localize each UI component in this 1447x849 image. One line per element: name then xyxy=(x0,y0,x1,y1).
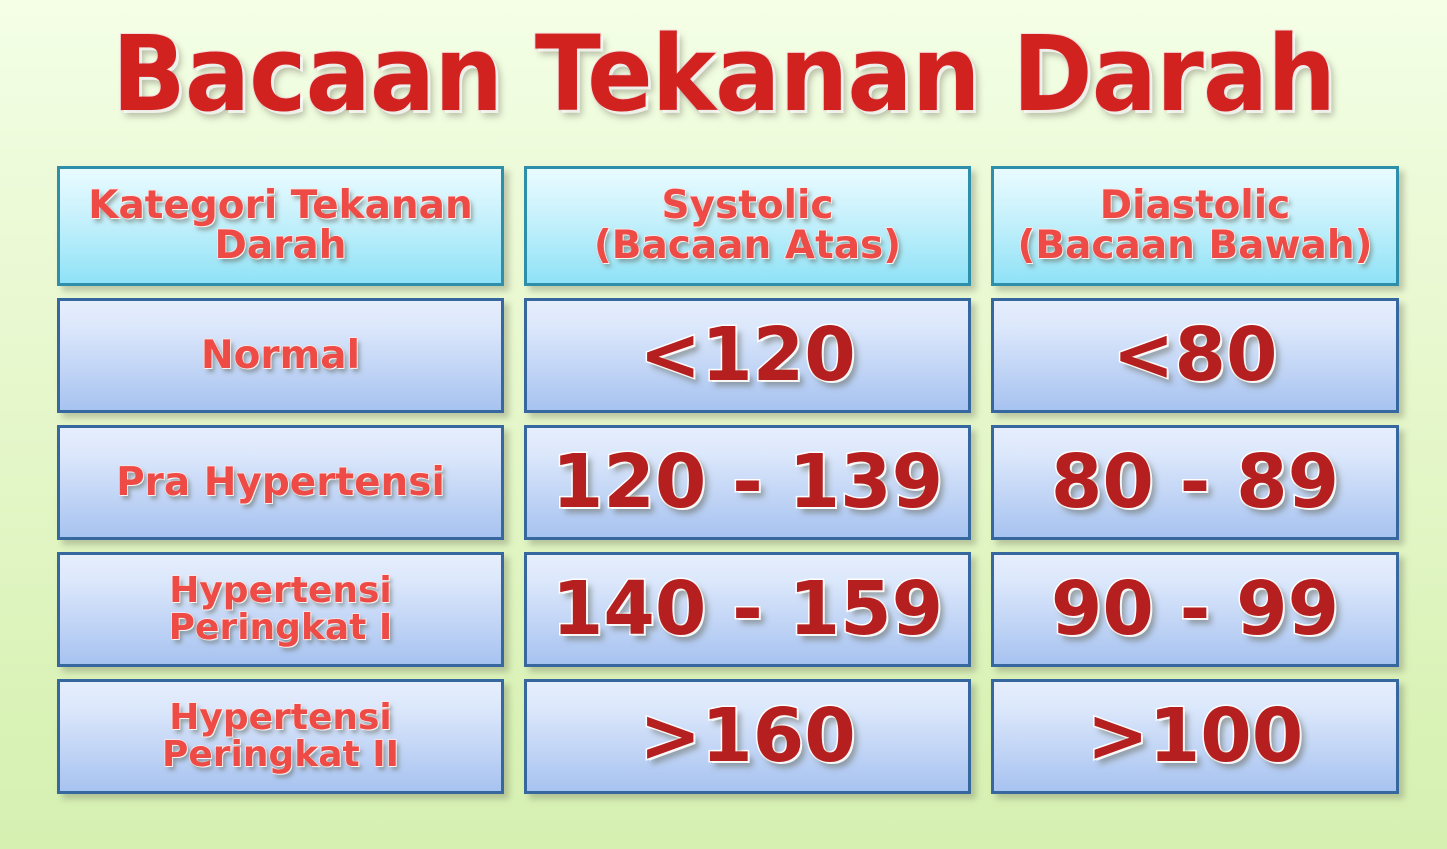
cell-category-hypertensi-2: Hypertensi Peringkat II xyxy=(162,700,399,773)
table-row: 140 - 159 xyxy=(524,552,971,667)
table-row: 120 - 139 xyxy=(524,425,971,540)
page-title-container: Bacaan Tekanan Darah xyxy=(0,4,1447,144)
table-row: 90 - 99 xyxy=(991,552,1399,667)
page-title: Bacaan Tekanan Darah xyxy=(112,22,1335,126)
cell-category-normal: Normal xyxy=(201,336,360,376)
table-row: Pra Hypertensi xyxy=(57,425,504,540)
header-label-category: Kategori Tekanan Darah xyxy=(88,186,473,266)
cell-diastolic-hypertensi-2: >100 xyxy=(1087,699,1303,774)
cell-diastolic-pra-hypertensi: 80 - 89 xyxy=(1051,445,1339,520)
table-row: >160 xyxy=(524,679,971,794)
blood-pressure-table: Kategori Tekanan Darah Systolic (Bacaan … xyxy=(57,166,1391,794)
table-row: Hypertensi Peringkat I xyxy=(57,552,504,667)
cell-systolic-pra-hypertensi: 120 - 139 xyxy=(552,445,943,520)
table-row: Hypertensi Peringkat II xyxy=(57,679,504,794)
table-header-systolic: Systolic (Bacaan Atas) xyxy=(524,166,971,286)
cell-diastolic-hypertensi-1: 90 - 99 xyxy=(1051,572,1339,647)
table-row: <120 xyxy=(524,298,971,413)
header-label-diastolic: Diastolic (Bacaan Bawah) xyxy=(1018,186,1373,266)
table-header-category: Kategori Tekanan Darah xyxy=(57,166,504,286)
header-label-systolic: Systolic (Bacaan Atas) xyxy=(594,186,901,266)
table-row: >100 xyxy=(991,679,1399,794)
table-row: <80 xyxy=(991,298,1399,413)
cell-systolic-hypertensi-1: 140 - 159 xyxy=(552,572,943,647)
cell-systolic-hypertensi-2: >160 xyxy=(639,699,855,774)
cell-category-hypertensi-1: Hypertensi Peringkat I xyxy=(169,573,393,646)
table-header-diastolic: Diastolic (Bacaan Bawah) xyxy=(991,166,1399,286)
cell-diastolic-normal: <80 xyxy=(1113,318,1278,393)
slide-root: Bacaan Tekanan Darah Kategori Tekanan Da… xyxy=(0,0,1447,849)
cell-systolic-normal: <120 xyxy=(639,318,855,393)
cell-category-pra-hypertensi: Pra Hypertensi xyxy=(116,463,445,503)
table-row: 80 - 89 xyxy=(991,425,1399,540)
table-row: Normal xyxy=(57,298,504,413)
